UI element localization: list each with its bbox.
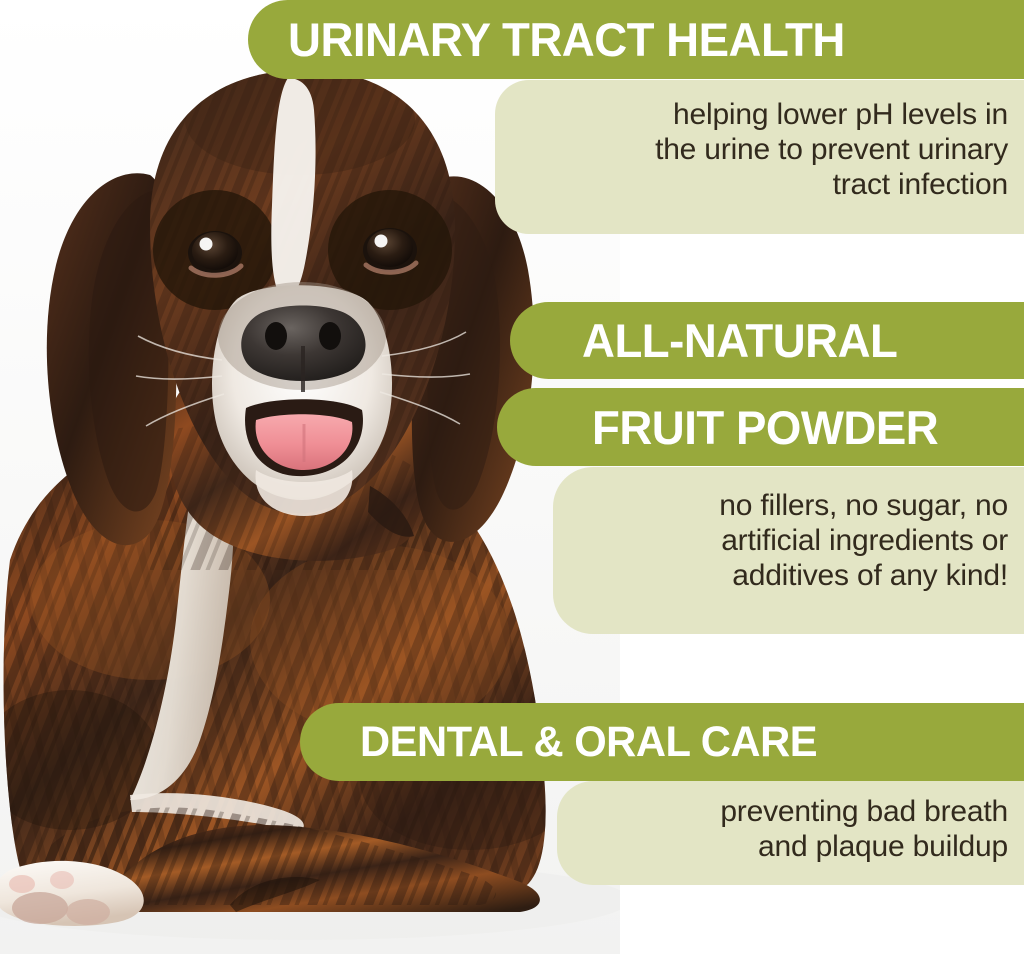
description-fruit-powder: no fillers, no sugar, no artificial ingr… <box>553 467 1024 634</box>
banner-fruit-powder-label: FRUIT POWDER <box>592 400 938 455</box>
banner-dental-oral-care: DENTAL & ORAL CARE <box>300 703 1024 781</box>
description-line: additives of any kind! <box>579 559 1008 594</box>
banner-dental-oral-care-label: DENTAL & ORAL CARE <box>360 718 817 767</box>
description-line: preventing bad breath <box>583 795 1008 830</box>
banner-urinary-tract-health-label: URINARY TRACT HEALTH <box>288 12 845 67</box>
banner-urinary-tract-health: URINARY TRACT HEALTH <box>248 0 1024 79</box>
banner-all-natural-label: ALL-NATURAL <box>582 313 897 368</box>
description-line: no fillers, no sugar, no <box>579 489 1008 524</box>
description-urinary-tract-health: helping lower pH levels in the urine to … <box>495 80 1024 234</box>
description-line: tract infection <box>521 168 1008 203</box>
infographic-canvas: URINARY TRACT HEALTH helping lower pH le… <box>0 0 1024 954</box>
description-line: and plaque buildup <box>583 830 1008 865</box>
banner-all-natural: ALL-NATURAL <box>510 302 1024 379</box>
description-dental-oral-care: preventing bad breath and plaque buildup <box>557 781 1024 885</box>
banner-fruit-powder: FRUIT POWDER <box>497 388 1024 466</box>
description-line: the urine to prevent urinary <box>521 133 1008 168</box>
description-line: helping lower pH levels in <box>521 98 1008 133</box>
description-line: artificial ingredients or <box>579 524 1008 559</box>
